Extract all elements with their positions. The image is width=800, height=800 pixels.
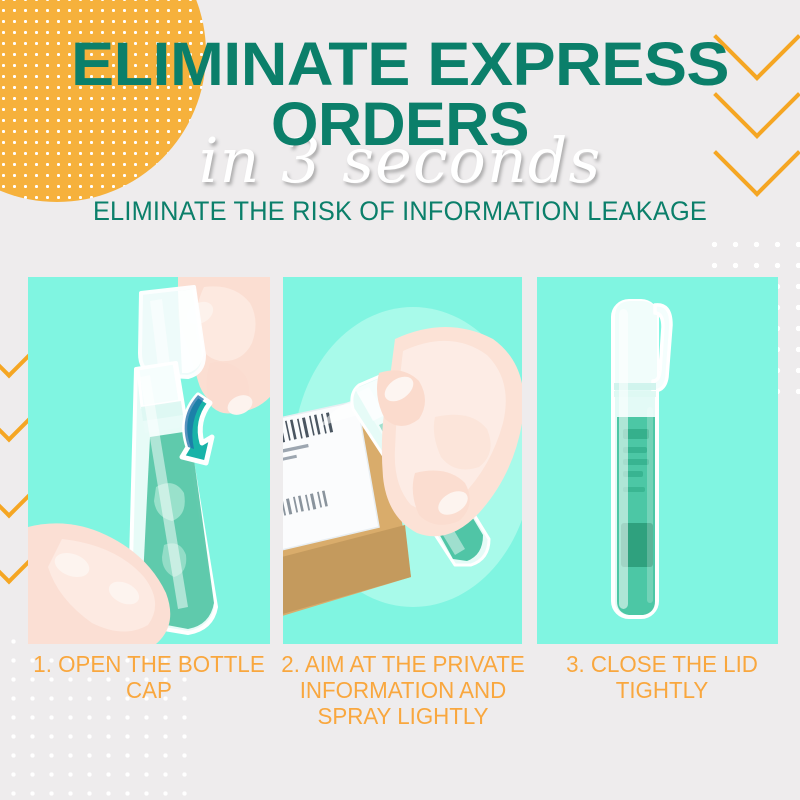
step-image-3 [537, 277, 778, 644]
headline-line-1: ELIMINATE EXPRESS [0, 36, 800, 94]
step-caption-3: 3. CLOSE THE LID TIGHTLY [541, 652, 784, 704]
subtitle: ELIMINATE THE RISK OF INFORMATION LEAKAG… [24, 196, 776, 227]
step-caption-2: 2. AIM AT THE PRIVATE INFORMATION AND SP… [276, 652, 530, 729]
step-image-1 [28, 277, 270, 644]
headline-line-2: ORDERS [0, 94, 800, 155]
poster-canvas: ELIMINATE EXPRESS ORDERS in 3 seconds EL… [0, 0, 800, 800]
headline-block: ELIMINATE EXPRESS ORDERS [0, 36, 800, 155]
step-caption-1: 1. OPEN THE BOTTLE CAP [32, 652, 267, 704]
step-image-2 [283, 277, 522, 644]
